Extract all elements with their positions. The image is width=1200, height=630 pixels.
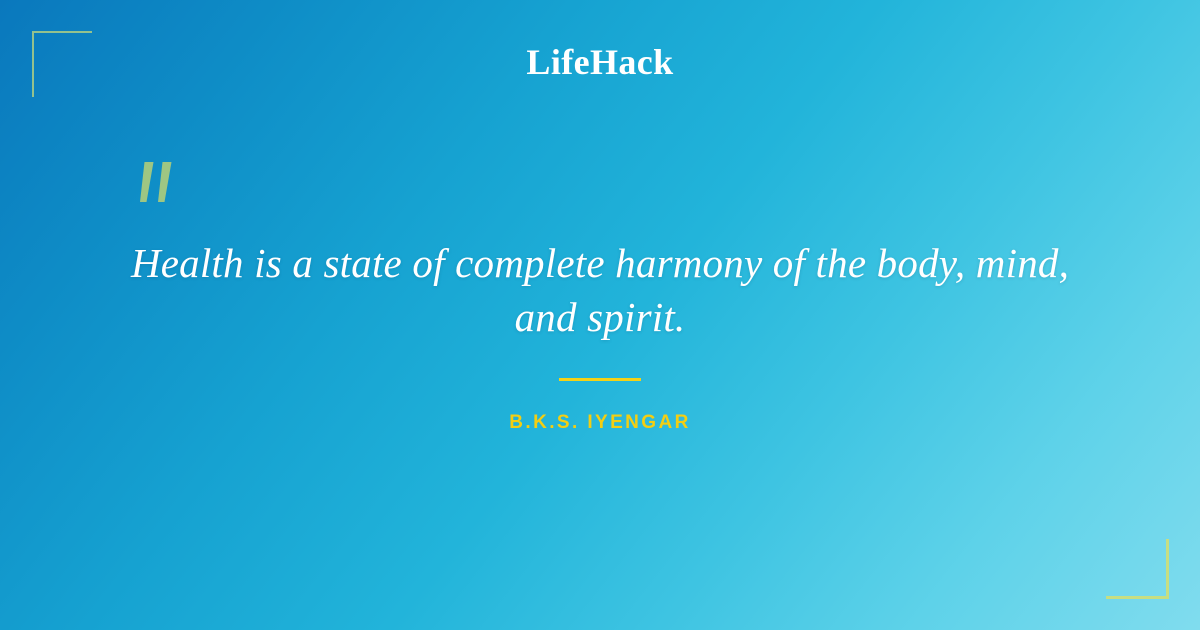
quote-card: LifeHack Health is a state of complete h…: [0, 0, 1200, 630]
author-divider: [559, 378, 641, 381]
quote-block: Health is a state of complete harmony of…: [100, 236, 1100, 344]
quote-text: Health is a state of complete harmony of…: [100, 236, 1100, 344]
author-area: B.K.S. IYENGAR: [0, 378, 1200, 435]
brand-logo: LifeHack: [0, 40, 1200, 84]
author-name: B.K.S. IYENGAR: [0, 411, 1200, 435]
double-quote-icon: [131, 160, 185, 222]
corner-bracket-icon-bottom-right: [1106, 539, 1169, 599]
